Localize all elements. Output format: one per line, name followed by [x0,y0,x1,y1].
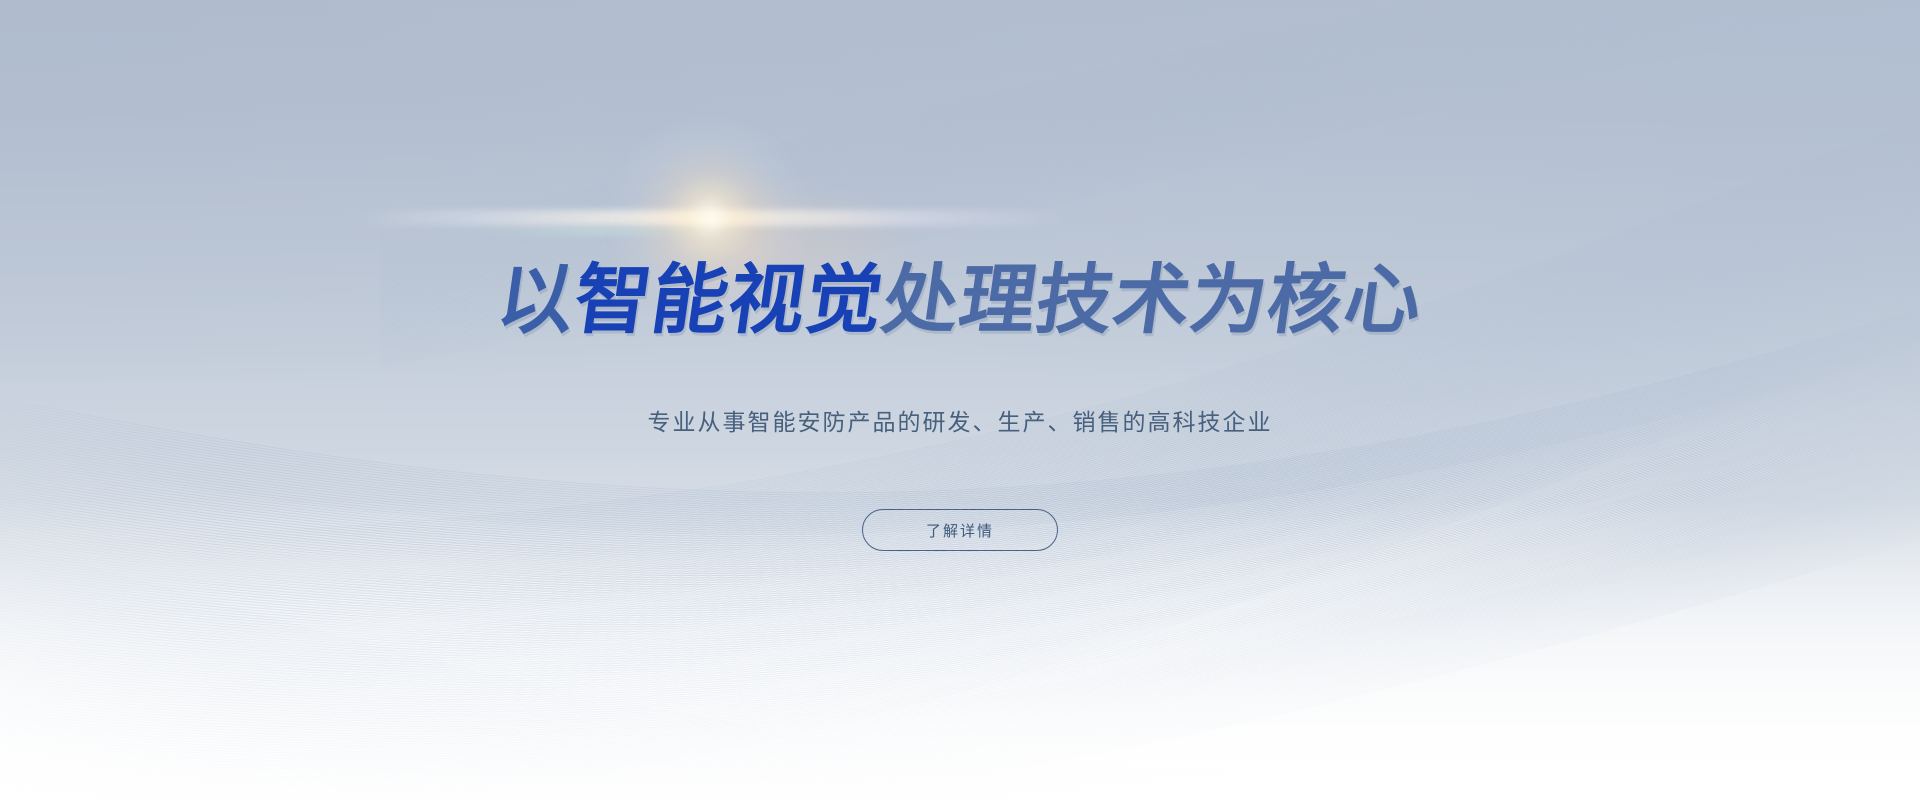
hero-banner: 以智能视觉处理技术为核心 专业从事智能安防产品的研发、生产、销售的高科技企业 了… [0,0,1920,800]
headline-segment-1: 以 [493,262,581,338]
page-title: 以智能视觉处理技术为核心 [0,262,1920,338]
cta-container: 了解详情 [0,509,1920,551]
headline-segment-3: 处理技术为核心 [878,262,1428,338]
learn-more-button[interactable]: 了解详情 [862,509,1058,551]
hero-content: 以智能视觉处理技术为核心 专业从事智能安防产品的研发、生产、销售的高科技企业 了… [0,0,1920,800]
headline-segment-2: 智能视觉 [570,262,889,338]
hero-subtitle: 专业从事智能安防产品的研发、生产、销售的高科技企业 [0,403,1920,437]
